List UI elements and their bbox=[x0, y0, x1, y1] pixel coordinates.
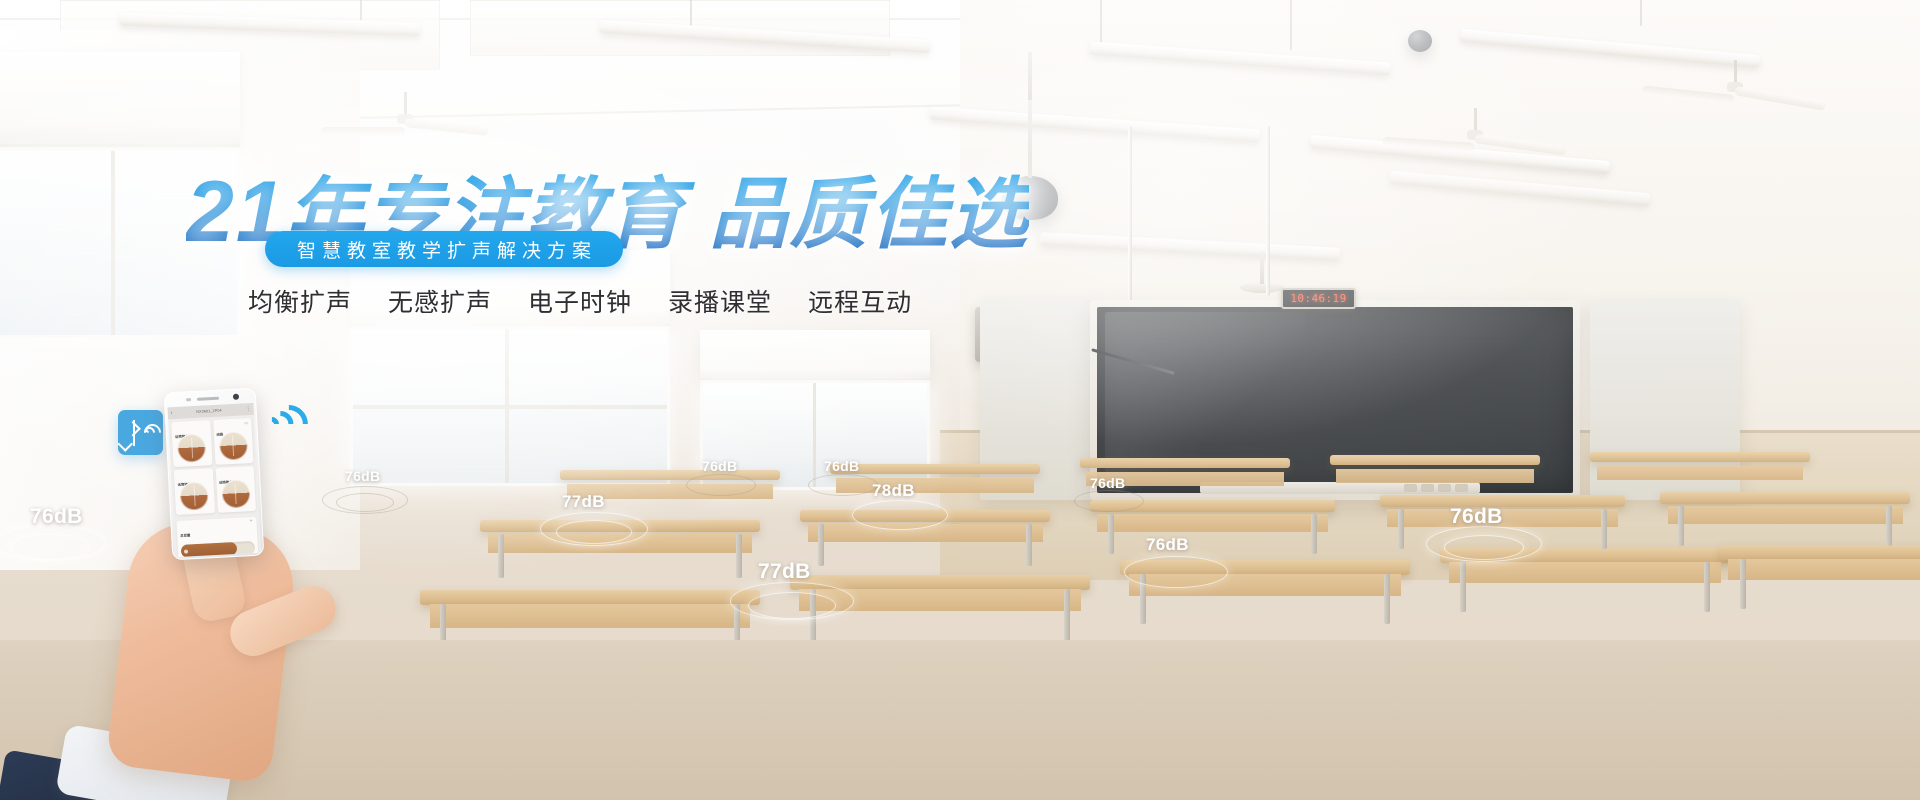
desk bbox=[1330, 455, 1540, 497]
feature-list: 均衡扩声无感扩声电子时钟录播课堂远程互动 bbox=[248, 283, 912, 319]
phone-body: ‹ NX3601_2P04 ⋮ 话筒输入A线路RF话筒输入一话筒输入二 总音量 … bbox=[164, 388, 265, 561]
subtitle-pill-label: 智慧教室教学扩声解决方案 bbox=[291, 236, 597, 263]
desk bbox=[1090, 500, 1335, 552]
desk bbox=[1120, 560, 1410, 624]
desk bbox=[560, 470, 780, 514]
desk bbox=[790, 575, 1090, 641]
feature-item-1: 无感扩声 bbox=[388, 283, 492, 319]
feature-item-3: 录播课堂 bbox=[668, 283, 772, 319]
knob-card-0[interactable]: 话筒输入A bbox=[171, 420, 212, 467]
rotary-knob[interactable] bbox=[221, 479, 250, 508]
light-hanger bbox=[360, 0, 362, 20]
window-blind bbox=[0, 52, 240, 147]
volume-card: 总音量 + bbox=[176, 517, 258, 557]
subtitle-pill: 智慧教室教学扩声解决方案 bbox=[265, 231, 623, 267]
feature-item-0: 均衡扩声 bbox=[248, 283, 352, 319]
volume-slider[interactable] bbox=[181, 541, 256, 557]
speaker-stem bbox=[1260, 252, 1264, 284]
desk bbox=[1660, 492, 1910, 544]
smartphone: ‹ NX3601_2P04 ⋮ 话筒输入A线路RF话筒输入一话筒输入二 总音量 … bbox=[168, 390, 278, 560]
desk bbox=[830, 464, 1040, 508]
led-clock: 10:46:19 bbox=[1281, 288, 1356, 309]
volume-slider-fill bbox=[181, 542, 238, 557]
rotary-knob[interactable] bbox=[219, 431, 248, 460]
bluetooth-icon bbox=[118, 410, 163, 455]
ceiling-fan bbox=[320, 92, 490, 142]
feature-item-2: 电子时钟 bbox=[528, 283, 632, 319]
feature-item-4: 远程互动 bbox=[808, 283, 912, 319]
knob-card-1[interactable]: 线路RF bbox=[213, 418, 254, 465]
phone-earpiece bbox=[197, 397, 219, 401]
more-vertical-icon[interactable]: ⋮ bbox=[246, 406, 251, 411]
bluetooth-waves-icon bbox=[144, 422, 155, 444]
mic-pole bbox=[1266, 126, 1270, 296]
plus-icon[interactable]: + bbox=[249, 519, 252, 524]
led-clock-time: 10:46:19 bbox=[1290, 292, 1346, 305]
ceiling-fan bbox=[1380, 108, 1570, 160]
desk bbox=[1440, 548, 1730, 610]
knob-card-3[interactable]: 话筒输入二 bbox=[215, 466, 256, 513]
desk bbox=[1720, 545, 1920, 607]
back-icon[interactable]: ‹ bbox=[171, 411, 173, 416]
desk bbox=[1380, 495, 1625, 547]
rotary-knob[interactable] bbox=[180, 481, 209, 510]
phone-sensor bbox=[186, 398, 191, 401]
ceiling-fan bbox=[1640, 60, 1830, 112]
volume-label: 总音量 bbox=[180, 533, 190, 538]
light-hanger bbox=[1290, 0, 1292, 50]
light-hanger bbox=[1640, 0, 1642, 26]
window-blind bbox=[700, 330, 930, 382]
knob-card-grid: 话筒输入A线路RF话筒输入一话筒输入二 bbox=[168, 415, 259, 518]
rotary-knob[interactable] bbox=[177, 433, 206, 462]
knob-card-2[interactable]: 话筒输入一 bbox=[174, 468, 215, 515]
desk bbox=[800, 510, 1050, 564]
phone-screen[interactable]: ‹ NX3601_2P04 ⋮ 话筒输入A线路RF话筒输入一话筒输入二 总音量 … bbox=[167, 403, 261, 557]
banner-stage: 10:46:19 bbox=[0, 0, 1920, 800]
ceiling-sensor bbox=[1408, 30, 1432, 52]
desk bbox=[1590, 452, 1810, 494]
desk bbox=[480, 520, 760, 576]
bluetooth-glyph-icon bbox=[126, 420, 143, 446]
knob-card-badge: RF bbox=[244, 421, 248, 425]
desk bbox=[1080, 458, 1290, 500]
app-title: NX3601_2P04 bbox=[196, 409, 222, 414]
window bbox=[350, 326, 670, 486]
speaker-stem bbox=[1028, 52, 1032, 102]
phone-camera bbox=[233, 394, 239, 400]
